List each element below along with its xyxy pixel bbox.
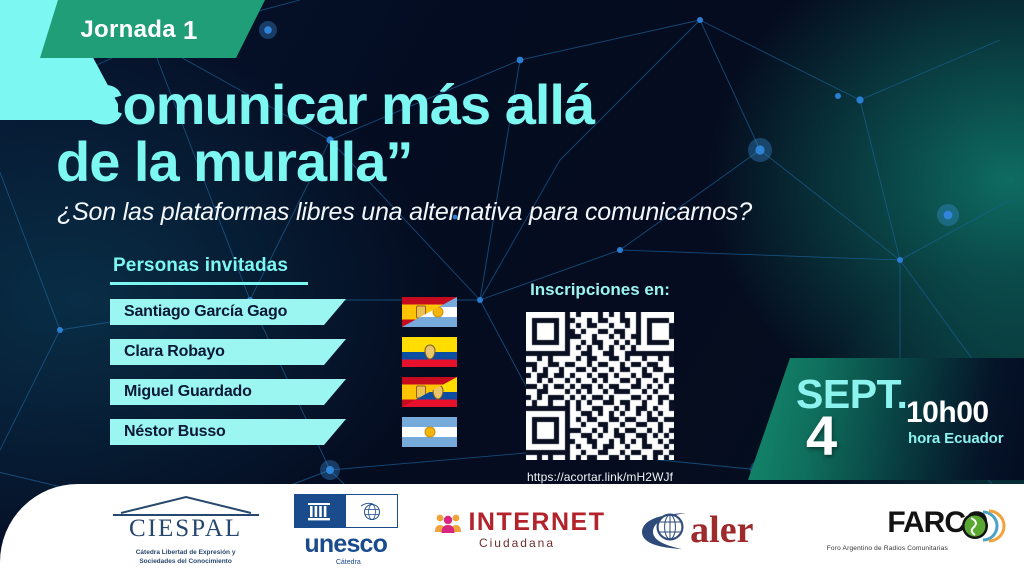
list-item: Néstor Busso [110,419,470,445]
invited-people-heading: Personas invitadas [110,255,470,277]
speaker-name-tag: Santiago García Gago [110,299,346,325]
event-timezone-note: hora Ecuador [908,430,1004,447]
qr-code-icon[interactable] [526,312,674,460]
event-poster: Jornada 1 “Comunicar más allá de la mura… [0,0,1024,576]
logo-aler: aler [638,505,788,555]
unesco-temple-icon [294,494,345,528]
speaker-name-tag: Miguel Guardado [110,379,346,405]
event-day: 4 [806,408,837,464]
speaker-name: Néstor Busso [110,423,226,441]
flag-argentina-icon [402,417,457,447]
unesco-globe-icon [345,494,398,528]
speaker-name-tag: Clara Robayo [110,339,346,365]
title-line-2: de la muralla” [56,133,756,190]
list-item: Santiago García Gago [110,299,470,325]
list-item: Miguel Guardado [110,379,470,405]
speaker-name: Clara Robayo [110,343,225,361]
farco-circle-icon [887,508,1024,544]
speaker-name: Miguel Guardado [110,383,252,401]
date-panel: SEPT. 4 10h00 hora Ecuador [748,358,1024,480]
flag-spain-ecuador-icon [402,377,457,407]
invited-people-section: Personas invitadas Santiago García Gago … [110,255,470,459]
sponsor-logo-strip: CIESPAL Cátedra Libertad de Expresión y … [0,484,1024,576]
unesco-wordmark: unesco [304,532,387,557]
registration-section: Inscripciones en: https://acortar.link/m… [490,280,710,484]
title-line-1: “Comunicar más allá [56,73,594,136]
unesco-tagline: Cátedra [331,559,361,566]
logo-ciespal: CIESPAL Cátedra Libertad de Expresión y … [111,494,261,567]
jornada-number: 1 [183,15,198,46]
internet-tagline: Ciudadana [479,536,561,550]
list-item: Clara Robayo [110,339,470,365]
unesco-emblem-boxes [294,494,398,528]
heading-underline [110,282,308,285]
flag-ecuador-icon [402,337,457,367]
registration-url[interactable]: https://acortar.link/mH2WJf [490,470,710,484]
jornada-banner: Jornada 1 [44,10,234,50]
logo-farco: FARCO Foro Argentino de Radios Comunitar… [817,508,957,552]
ciespal-tagline: Cátedra Libertad de Expresión y Sociedad… [136,549,236,567]
page-title: “Comunicar más allá de la muralla” [56,76,756,190]
flag-spain-argentina-icon [402,297,457,327]
logo-unesco: unesco Cátedra [290,494,402,566]
speaker-name: Santiago García Gago [110,303,287,321]
people-group-icon [434,511,464,535]
ciespal-roof-icon [111,494,261,516]
logo-internet-ciudadana: INTERNET Ciudadana [431,510,609,550]
ciespal-wordmark: CIESPAL [129,516,242,541]
registration-label: Inscripciones en: [490,280,710,300]
farco-tagline: Foro Argentino de Radios Comunitarias [827,545,948,552]
speaker-name-tag: Néstor Busso [110,419,346,445]
aler-wordmark: aler [690,511,753,549]
jornada-label: Jornada [80,16,175,44]
page-subtitle: ¿Son las plataformas libres una alternat… [57,198,907,227]
internet-wordmark: INTERNET [468,510,605,535]
event-time: 10h00 [906,398,989,428]
